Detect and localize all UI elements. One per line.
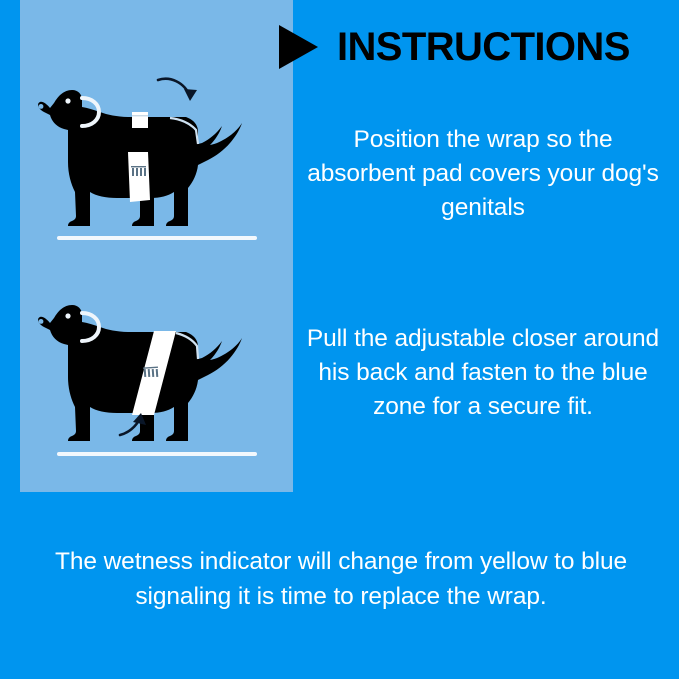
step-2-text: Pull the adjustable closer around his ba… <box>300 322 666 423</box>
dog-illustration-2 <box>20 285 293 465</box>
play-triangle-icon <box>275 24 321 70</box>
dog-eye <box>65 313 70 318</box>
dog-eye <box>65 98 70 103</box>
wrap-top-tab <box>132 112 148 128</box>
header: INSTRUCTIONS <box>273 17 679 77</box>
illustration-panel <box>20 0 293 492</box>
dog-illustration-1 <box>20 70 293 250</box>
step-1-text: Position the wrap so the absorbent pad c… <box>300 123 666 224</box>
infographic-page: INSTRUCTIONS Position the wrap so the ab… <box>0 0 679 679</box>
wrap-top-tab-line <box>132 115 148 116</box>
ground-line-2 <box>57 452 257 456</box>
dog-figure-2 <box>20 285 293 465</box>
wrap-absorbent-pad <box>128 152 150 202</box>
dog-figure-1 <box>20 70 293 250</box>
curved-arrow-down-icon <box>158 79 197 101</box>
footer-note: The wetness indicator will change from y… <box>24 545 658 615</box>
ground-line-1 <box>57 236 257 240</box>
page-title: INSTRUCTIONS <box>337 27 630 67</box>
dog-nose-highlight <box>39 104 44 109</box>
dog-nose-highlight <box>39 319 44 324</box>
